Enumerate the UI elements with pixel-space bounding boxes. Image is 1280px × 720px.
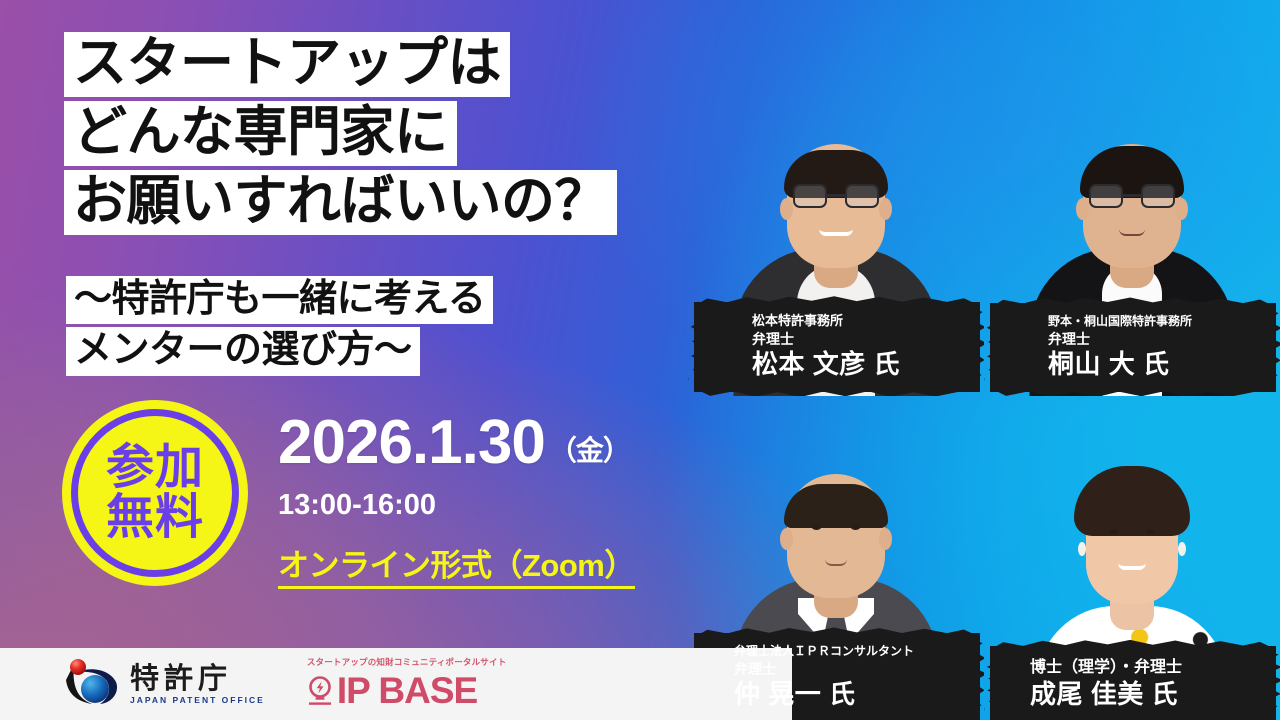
- page-subtitle: 〜特許庁も一緒に考える メンターの選び方〜: [66, 276, 493, 379]
- speaker-role: 弁理士: [734, 660, 966, 678]
- jpo-mark-icon: [62, 658, 124, 710]
- event-details: 2026.1.30 （金） 13:00-16:00 オンライン形式（Zoom）: [278, 412, 635, 589]
- event-day-of-week: （金）: [549, 437, 630, 465]
- eyeglasses-icon: [1089, 184, 1175, 210]
- speaker-card-kiriyama: 野本・桐山国際特許事務所 弁理士 桐山 大 氏: [984, 36, 1280, 396]
- speaker-org: 弁理士法人ＩＰＲコンサルタント: [734, 644, 966, 659]
- subtitle-line-2: メンターの選び方〜: [66, 327, 420, 375]
- event-poster: スタートアップは どんな専門家に お願いすればいいの？ 〜特許庁も一緒に考える …: [0, 0, 1280, 720]
- nameplate-naka: 弁理士法人ＩＰＲコンサルタント 弁理士 仲 晃一 氏: [694, 633, 980, 720]
- title-line-2: どんな専門家に: [64, 101, 457, 166]
- speaker-card-naruo: 博士（理学）・弁理士 成尾 佳美 氏: [984, 366, 1280, 720]
- jpo-name-en: JAPAN PATENT OFFICE: [130, 696, 265, 705]
- speaker-name: 成尾 佳美 氏: [1030, 679, 1262, 710]
- speaker-role: 弁理士: [1048, 330, 1262, 348]
- left-content-column: スタートアップは どんな専門家に お願いすればいいの？ 〜特許庁も一緒に考える …: [0, 0, 700, 720]
- speaker-name: 仲 晃一 氏: [734, 679, 966, 710]
- speaker-org: 博士（理学）・弁理士: [1030, 658, 1262, 679]
- nameplate-naruo: 博士（理学）・弁理士 成尾 佳美 氏: [990, 646, 1276, 720]
- ipbase-logo[interactable]: スタートアップの知財コミュニティポータルサイト IP BASE: [307, 659, 507, 709]
- speaker-role: 弁理士: [752, 330, 966, 348]
- jpo-name-jp: 特許庁: [130, 663, 265, 693]
- event-format[interactable]: オンライン形式（Zoom）: [278, 550, 635, 589]
- badge-label: 参加 無料: [106, 443, 204, 543]
- ipbase-wordmark: IP BASE: [337, 672, 477, 709]
- lightbulb-icon: [307, 674, 333, 706]
- speaker-org: 松本特許事務所: [752, 313, 966, 329]
- title-line-1: スタートアップは: [64, 32, 510, 97]
- subtitle-line-1: 〜特許庁も一緒に考える: [66, 276, 493, 324]
- speaker-name: 桐山 大 氏: [1048, 349, 1262, 380]
- speaker-org: 野本・桐山国際特許事務所: [1048, 314, 1262, 329]
- event-time: 13:00-16:00: [278, 491, 635, 520]
- speaker-name: 松本 文彦 氏: [752, 349, 966, 380]
- event-date-row: 2026.1.30 （金）: [278, 412, 635, 474]
- speakers-grid: 松本特許事務所 弁理士 松本 文彦 氏 野本・桐山国際特許事務所 弁理士: [688, 0, 1280, 720]
- title-line-3: お願いすればいいの？: [64, 170, 617, 235]
- jpo-logo[interactable]: 特許庁 JAPAN PATENT OFFICE: [62, 657, 265, 711]
- free-admission-badge: 参加 無料: [62, 400, 248, 586]
- speaker-card-matsumoto: 松本特許事務所 弁理士 松本 文彦 氏: [688, 36, 984, 396]
- ipbase-tagline: スタートアップの知財コミュニティポータルサイト: [307, 659, 507, 668]
- page-title: スタートアップは どんな専門家に お願いすればいいの？: [64, 32, 617, 239]
- badge-line-2: 無料: [106, 493, 204, 543]
- badge-line-1: 参加: [106, 443, 204, 493]
- footer-logo-bar: 特許庁 JAPAN PATENT OFFICE スタートアップの知財コミュニティ…: [0, 648, 792, 720]
- eyeglasses-icon: [793, 184, 879, 210]
- event-date: 2026.1.30: [278, 412, 545, 474]
